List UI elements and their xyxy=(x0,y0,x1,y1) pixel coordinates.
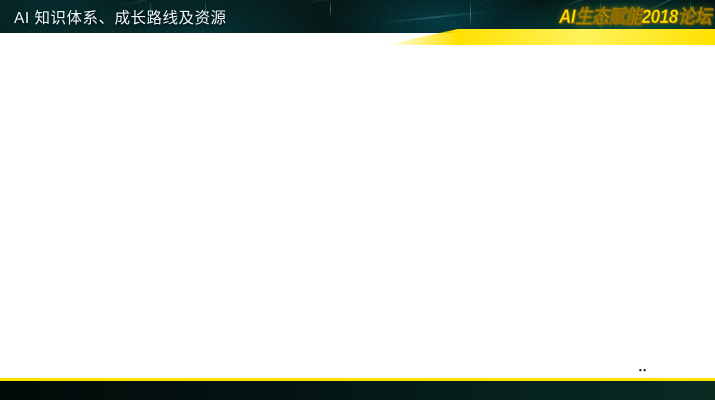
csdn-mark-icon xyxy=(633,362,652,376)
slide-footer-bar xyxy=(0,378,715,400)
page-title: AI 知识体系、成长路线及资源 xyxy=(14,6,226,28)
slide-content-canvas xyxy=(0,33,715,378)
event-title: AI生态赋能2018论坛 xyxy=(559,1,711,29)
footer-yellow-rule xyxy=(0,378,715,381)
csdn-logo: CSDN xyxy=(633,360,703,377)
slide-root: AI 知识体系、成长路线及资源 AI生态赋能2018论坛 暨CSDN AI新战略… xyxy=(0,0,715,400)
csdn-wordmark: CSDN xyxy=(656,360,703,377)
